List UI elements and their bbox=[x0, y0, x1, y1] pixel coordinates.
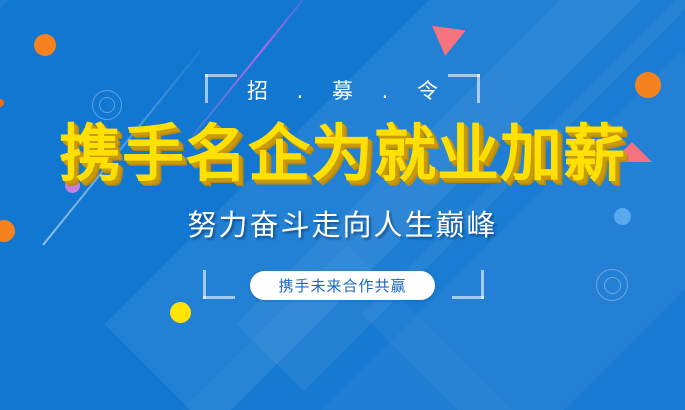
corner-bracket-bottom-right bbox=[452, 270, 484, 299]
bracket-horizontal-stroke bbox=[452, 296, 484, 299]
double-ring-icon-right bbox=[596, 269, 628, 301]
headline-text: 携手名企为就业加薪 bbox=[0, 118, 685, 190]
diagonal-band-6 bbox=[50, 245, 580, 410]
pink-triangle-down-icon bbox=[428, 26, 466, 58]
cta-button-label: 携手未来合作共赢 bbox=[278, 275, 406, 296]
bracket-horizontal-stroke bbox=[203, 296, 235, 299]
eyebrow-text: 招 . 募 . 令 bbox=[0, 75, 685, 105]
cta-button[interactable]: 携手未来合作共赢 bbox=[250, 271, 435, 300]
diagonal-band-2 bbox=[236, 0, 685, 391]
diagonal-band-3 bbox=[362, 0, 685, 410]
subheadline-text: 努力奋斗走向人生巅峰 bbox=[0, 206, 685, 244]
yellow-circle-bottom bbox=[170, 302, 191, 323]
orange-circle-top-left bbox=[34, 34, 56, 56]
violet-diagonal-streak bbox=[192, 0, 319, 136]
corner-bracket-bottom-left bbox=[203, 270, 235, 299]
recruitment-banner: 招 . 募 . 令 携手名企为就业加薪 努力奋斗走向人生巅峰 携手未来合作共赢 bbox=[0, 0, 685, 410]
bracket-vertical-stroke bbox=[203, 270, 206, 299]
bracket-vertical-stroke bbox=[481, 270, 484, 299]
